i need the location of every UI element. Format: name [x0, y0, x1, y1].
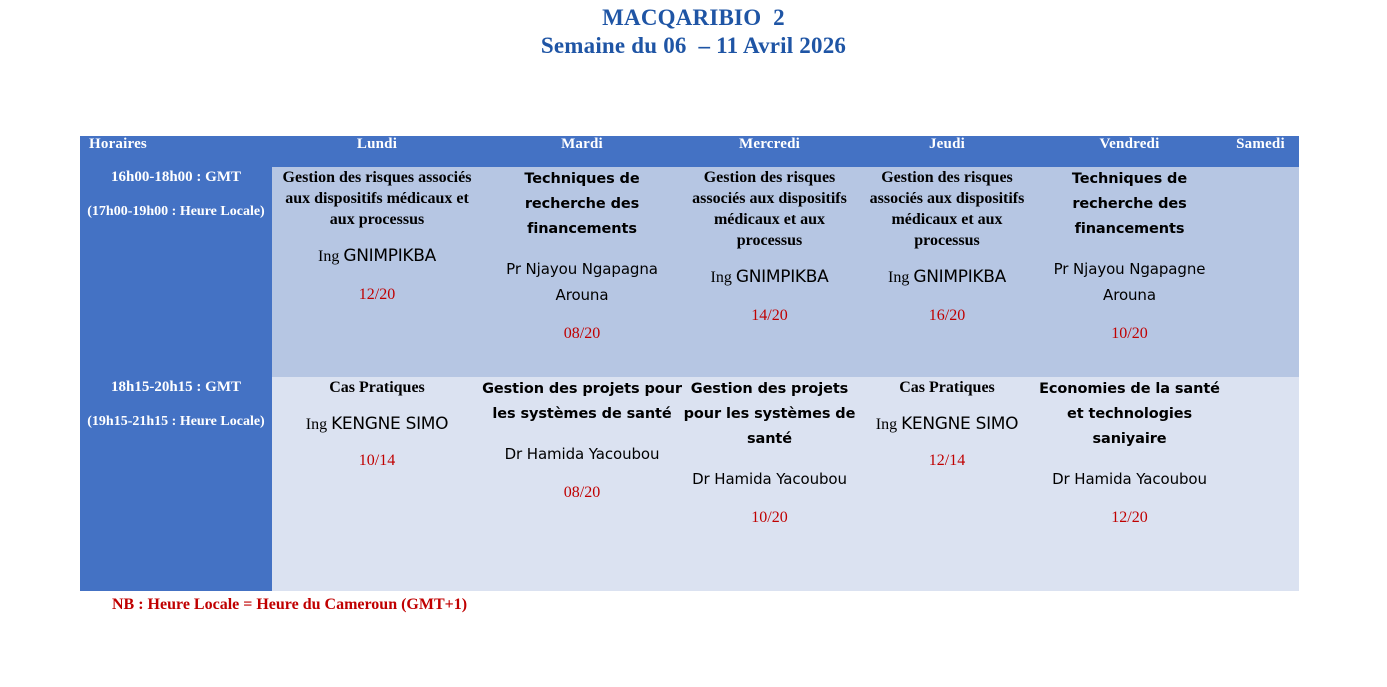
- time-slot-gmt: 16h00-18h00 : GMT: [80, 167, 272, 187]
- time-slot-cell-1: 16h00-18h00 : GMT (17h00-19h00 : Heure L…: [80, 167, 272, 377]
- session-course-title: Techniques de recherche des financements: [1037, 167, 1222, 242]
- session-course-title: Gestion des risques associés aux disposi…: [682, 167, 857, 251]
- session-cell-jeudi-2: Cas Pratiques Ing KENGNE SIMO 12/14: [857, 377, 1037, 591]
- session-teacher-name: KENGNE SIMO: [901, 414, 1018, 434]
- schedule-table-container: Horaires Lundi Mardi Mercredi Jeudi Vend…: [80, 136, 1299, 591]
- session-course-title: Gestion des risques associés aux disposi…: [272, 167, 482, 230]
- session-course-title: Gestion des projets pour les systèmes de…: [682, 377, 857, 452]
- page-title: MACQARIBIO 2 Semaine du 06 – 11 Avril 20…: [0, 4, 1387, 60]
- time-slot-gmt: 18h15-20h15 : GMT: [80, 377, 272, 397]
- session-course-title: Cas Pratiques: [857, 377, 1037, 398]
- column-header-samedi: Samedi: [1222, 136, 1299, 167]
- session-teacher: Pr Njayou Ngapagna Arouna: [482, 256, 682, 308]
- session-score: 10/20: [682, 508, 857, 528]
- session-score: 10/14: [272, 451, 482, 471]
- session-empty: [1222, 167, 1299, 168]
- schedule-table: Horaires Lundi Mardi Mercredi Jeudi Vend…: [80, 136, 1299, 591]
- session-course-title: Cas Pratiques: [272, 377, 482, 398]
- session-teacher: Ing GNIMPIKBA: [682, 265, 857, 290]
- column-header-vendredi: Vendredi: [1037, 136, 1222, 167]
- session-teacher: Pr Njayou Ngapagne Arouna: [1037, 256, 1222, 308]
- session-teacher: Ing GNIMPIKBA: [272, 244, 482, 269]
- column-header-lundi: Lundi: [272, 136, 482, 167]
- session-course-title: Techniques de recherche des financements: [482, 167, 682, 242]
- session-teacher-prefix: Ing: [306, 416, 327, 433]
- session-cell-lundi-2: Cas Pratiques Ing KENGNE SIMO 10/14: [272, 377, 482, 591]
- session-teacher-name: GNIMPIKBA: [913, 267, 1006, 287]
- session-course-title: Gestion des projets pour les systèmes de…: [482, 377, 682, 427]
- time-slot-local: (19h15-21h15 : Heure Locale): [80, 412, 272, 431]
- session-teacher-prefix: Ing: [318, 248, 339, 265]
- session-teacher-name: KENGNE SIMO: [331, 414, 448, 434]
- session-teacher: Ing GNIMPIKBA: [857, 265, 1037, 290]
- session-cell-vendredi-1: Techniques de recherche des financements…: [1037, 167, 1222, 377]
- session-score: 12/20: [272, 285, 482, 305]
- session-teacher: Dr Hamida Yacoubou: [1037, 466, 1222, 492]
- session-teacher: Dr Hamida Yacoubou: [482, 441, 682, 467]
- session-course-title: Gestion des risques associés aux disposi…: [857, 167, 1037, 251]
- session-cell-vendredi-2: Economies de la santé et technologies sa…: [1037, 377, 1222, 591]
- session-course-title: Economies de la santé et technologies sa…: [1037, 377, 1222, 452]
- session-cell-mardi-1: Techniques de recherche des financements…: [482, 167, 682, 377]
- session-teacher: Ing KENGNE SIMO: [272, 412, 482, 437]
- column-header-jeudi: Jeudi: [857, 136, 1037, 167]
- session-score: 08/20: [482, 483, 682, 503]
- column-header-mercredi: Mercredi: [682, 136, 857, 167]
- session-score: 08/20: [482, 324, 682, 344]
- table-row: 18h15-20h15 : GMT (19h15-21h15 : Heure L…: [80, 377, 1299, 591]
- session-cell-samedi-1: [1222, 167, 1299, 377]
- title-line-program: MACQARIBIO 2: [0, 4, 1387, 32]
- session-empty: [1222, 377, 1299, 378]
- time-slot-local: (17h00-19h00 : Heure Locale): [80, 202, 272, 221]
- title-line-week: Semaine du 06 – 11 Avril 2026: [0, 32, 1387, 60]
- column-header-mardi: Mardi: [482, 136, 682, 167]
- session-teacher-prefix: Ing: [888, 269, 909, 286]
- table-row: 16h00-18h00 : GMT (17h00-19h00 : Heure L…: [80, 167, 1299, 377]
- session-teacher-name: GNIMPIKBA: [736, 267, 829, 287]
- session-teacher-prefix: Ing: [876, 416, 897, 433]
- session-cell-mercredi-1: Gestion des risques associés aux disposi…: [682, 167, 857, 377]
- time-slot-cell-2: 18h15-20h15 : GMT (19h15-21h15 : Heure L…: [80, 377, 272, 591]
- session-cell-samedi-2: [1222, 377, 1299, 591]
- session-cell-mardi-2: Gestion des projets pour les systèmes de…: [482, 377, 682, 591]
- session-cell-jeudi-1: Gestion des risques associés aux disposi…: [857, 167, 1037, 377]
- session-score: 12/14: [857, 451, 1037, 471]
- session-score: 14/20: [682, 306, 857, 326]
- session-teacher-prefix: Ing: [711, 269, 732, 286]
- session-cell-mercredi-2: Gestion des projets pour les systèmes de…: [682, 377, 857, 591]
- session-teacher: Ing KENGNE SIMO: [857, 412, 1037, 437]
- column-header-horaires: Horaires: [80, 136, 272, 167]
- session-score: 16/20: [857, 306, 1037, 326]
- session-teacher: Dr Hamida Yacoubou: [682, 466, 857, 492]
- session-teacher-name: GNIMPIKBA: [343, 246, 436, 266]
- session-score: 10/20: [1037, 324, 1222, 344]
- footnote-local-time: NB : Heure Locale = Heure du Cameroun (G…: [112, 594, 467, 616]
- session-cell-lundi-1: Gestion des risques associés aux disposi…: [272, 167, 482, 377]
- session-score: 12/20: [1037, 508, 1222, 528]
- table-header-row: Horaires Lundi Mardi Mercredi Jeudi Vend…: [80, 136, 1299, 167]
